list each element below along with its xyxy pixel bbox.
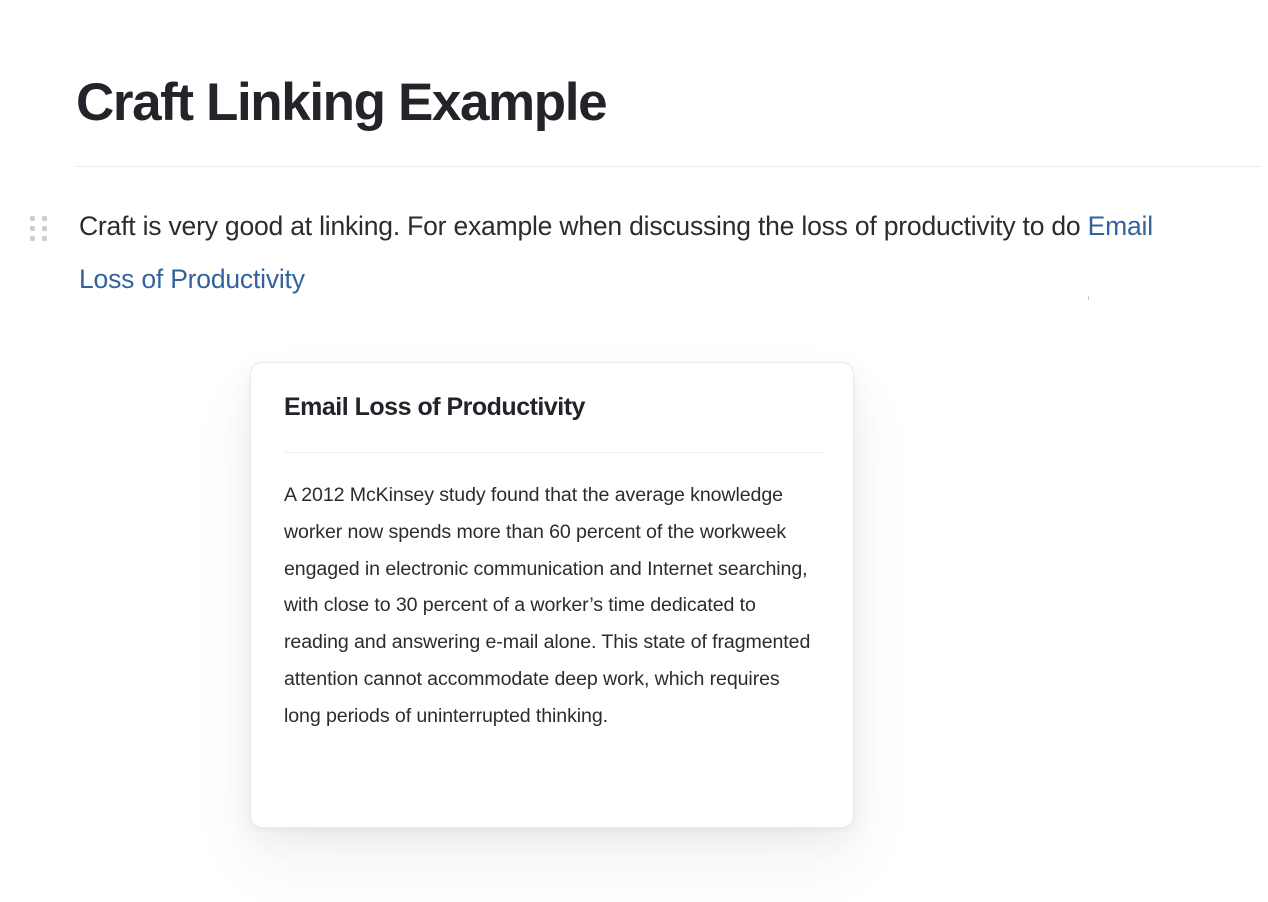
link-card-divider [284,452,822,453]
page-title[interactable]: Craft Linking Example [76,72,1226,133]
drag-dot [30,236,35,241]
drag-dot [42,226,47,231]
link-card-body: A 2012 McKinsey study found that the ave… [284,477,819,735]
link-preview-card[interactable]: Email Loss of Productivity A 2012 McKins… [250,362,854,828]
drag-dot [30,216,35,221]
title-divider [76,166,1262,167]
block-paragraph[interactable]: Craft is very good at linking. For examp… [79,200,1184,306]
drag-dot [42,236,47,241]
paragraph-text-before-link: Craft is very good at linking. For examp… [79,211,1088,241]
link-card-title: Email Loss of Productivity [284,390,585,424]
document-page: Craft Linking Example Craft is very good… [0,0,1268,902]
drag-dot [42,216,47,221]
drag-dot [30,226,35,231]
drag-dots-icon[interactable] [30,216,47,241]
